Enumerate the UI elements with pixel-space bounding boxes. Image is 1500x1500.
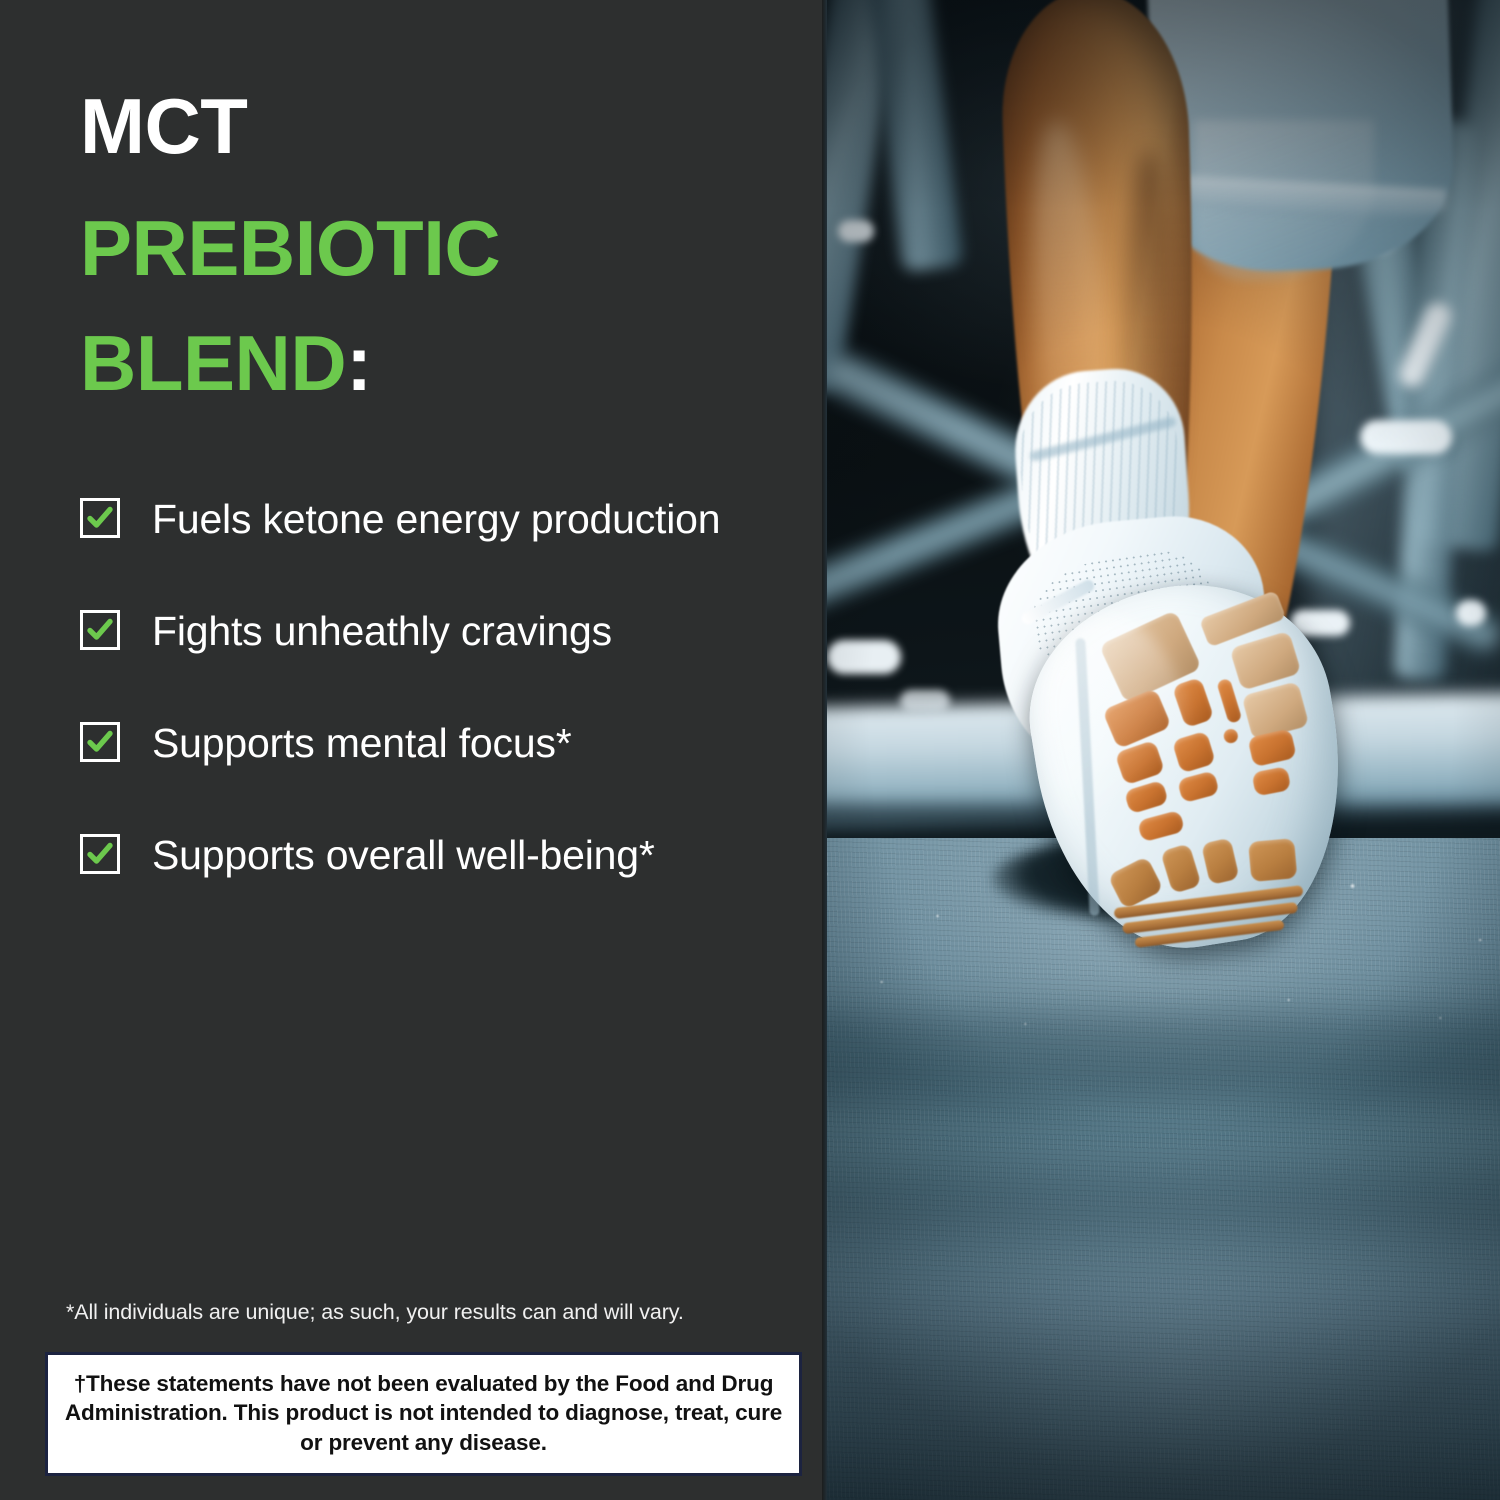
headline-colon: : <box>346 319 371 407</box>
lifestyle-photo <box>822 0 1500 1500</box>
fda-disclaimer-text: †These statements have not been evaluate… <box>64 1369 783 1457</box>
checkbox-checked-icon <box>80 610 120 650</box>
light-reflection <box>827 640 901 674</box>
light-reflection <box>1360 420 1452 454</box>
checkbox-checked-icon <box>80 498 120 538</box>
benefit-label: Supports overall well-being* <box>152 828 655 882</box>
headline-block: MCT PREBIOTIC BLEND: <box>80 88 780 439</box>
sole-heel-pad <box>1248 838 1297 882</box>
belt-shadow-band <box>822 1168 1500 1238</box>
benefit-label: Fuels ketone energy production <box>152 492 720 546</box>
benefit-item: Supports mental focus* <box>80 716 780 770</box>
sole-tread-pad <box>1216 678 1242 724</box>
headline-line-blend: BLEND: <box>80 325 780 401</box>
headline-blend-word: BLEND <box>80 319 346 407</box>
benefit-item: Fuels ketone energy production <box>80 492 780 546</box>
light-reflection <box>1456 600 1486 626</box>
sole-heel-pad <box>1160 843 1202 894</box>
checkbox-checked-icon <box>80 722 120 762</box>
sole-tread-pad <box>1223 728 1239 744</box>
fda-disclaimer-box: †These statements have not been evaluate… <box>45 1352 802 1476</box>
photo-stage <box>822 0 1500 1500</box>
headline-line-mct: MCT <box>80 88 780 164</box>
benefit-item: Fights unheathly cravings <box>80 604 780 658</box>
sole-heel-pad <box>1201 837 1240 885</box>
light-reflection <box>838 220 874 242</box>
benefit-item: Supports overall well-being* <box>80 828 780 882</box>
benefit-label: Supports mental focus* <box>152 716 572 770</box>
sole-heel-pad <box>1107 856 1163 910</box>
headline-line-prebiotic: PREBIOTIC <box>80 210 780 286</box>
belt-shadow-band <box>822 1013 1500 1103</box>
results-disclaimer: *All individuals are unique; as such, yo… <box>66 1300 684 1325</box>
sole-tread-pad <box>1229 631 1301 691</box>
left-info-panel: MCT PREBIOTIC BLEND: Fuels ketone energy… <box>0 0 822 1500</box>
product-benefit-banner: MCT PREBIOTIC BLEND: Fuels ketone energy… <box>0 0 1500 1500</box>
sole-tread-pad <box>1251 766 1291 796</box>
benefits-list: Fuels ketone energy production Fights un… <box>80 492 780 882</box>
benefit-label: Fights unheathly cravings <box>152 604 612 658</box>
checkbox-checked-icon <box>80 834 120 874</box>
